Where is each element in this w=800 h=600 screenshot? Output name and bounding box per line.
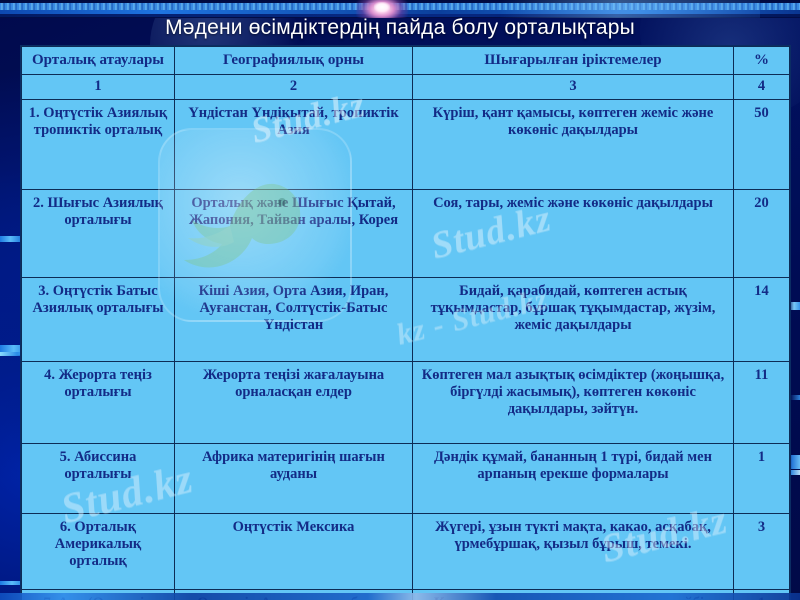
column-number-1: 1 <box>22 74 175 99</box>
table-row: 3. Оңтүстік Батыс Азиялық орталығы Кіші … <box>22 277 790 361</box>
cell-center: 3. Оңтүстік Батыс Азиялық орталығы <box>22 277 175 361</box>
cell-crops: Дәндік құмай, бананның 1 түрі, бидай мен… <box>413 443 734 513</box>
cell-location: Жерорта теңізі жағалауына орналасқан елд… <box>175 361 413 443</box>
cell-crops: Соя, тары, жеміс және көкөніс дақылдары <box>413 189 734 277</box>
cell-percent: 50 <box>734 99 790 189</box>
table-row: 6. Орталық Америкалық орталық Оңтүстік М… <box>22 513 790 589</box>
cell-center: 1. Оңтүстік Азиялық тропиктік орталық <box>22 99 175 189</box>
cell-center: 5. Абиссина орталығы <box>22 443 175 513</box>
column-numbering-row: 1 2 3 4 <box>22 74 790 99</box>
column-number-4: 4 <box>734 74 790 99</box>
cell-location: Оңтүстік Мексика <box>175 513 413 589</box>
column-header-location: Географиялық орны <box>175 47 413 75</box>
cell-crops: Көптеген мал азықтық өсімдіктер (жоңышқа… <box>413 361 734 443</box>
column-number-3: 3 <box>413 74 734 99</box>
column-header-center: Орталық атаулары <box>22 47 175 75</box>
table-row: 1. Оңтүстік Азиялық тропиктік орталық Үн… <box>22 99 790 189</box>
cell-crops: Күріш, қант қамысы, көптеген жеміс және … <box>413 99 734 189</box>
cell-location: Кіші Азия, Орта Азия, Иран, Ауғанстан, С… <box>175 277 413 361</box>
column-header-crops: Шығарылған іріктемелер <box>413 47 734 75</box>
slide-canvas: Мәдени өсімдіктердің пайда болу орталықт… <box>0 0 800 600</box>
cell-location: Орталық және Шығыс Қытай, Жапония, Тайва… <box>175 189 413 277</box>
bottom-decorative-bar <box>0 593 800 600</box>
cell-percent: 14 <box>734 277 790 361</box>
table-row: 4. Жерорта теңіз орталығы Жерорта теңізі… <box>22 361 790 443</box>
table-header-row: Орталық атаулары Географиялық орны Шығар… <box>22 47 790 75</box>
column-number-2: 2 <box>175 74 413 99</box>
cell-center: 4. Жерорта теңіз орталығы <box>22 361 175 443</box>
cell-center: 2. Шығыс Азиялық орталығы <box>22 189 175 277</box>
cell-percent: 3 <box>734 513 790 589</box>
page-title: Мәдени өсімдіктердің пайда болу орталықт… <box>0 16 800 40</box>
cell-percent: 11 <box>734 361 790 443</box>
cell-location: Африка материгінің шағын ауданы <box>175 443 413 513</box>
cell-center: 6. Орталық Америкалық орталық <box>22 513 175 589</box>
table-row: 5. Абиссина орталығы Африка материгінің … <box>22 443 790 513</box>
sparkle-core-icon <box>374 2 390 12</box>
edge-accent-right-2 <box>790 395 800 400</box>
table-row: 2. Шығыс Азиялық орталығы Орталық және Ш… <box>22 189 790 277</box>
origin-centers-table: Орталық атаулары Географиялық орны Шығар… <box>21 46 790 600</box>
cell-location: Үндістан Үндіқытай, тропиктік Азия <box>175 99 413 189</box>
cell-percent: 20 <box>734 189 790 277</box>
column-header-percent: % <box>734 47 790 75</box>
cell-crops: Жүгері, ұзын түкті мақта, какао, асқабақ… <box>413 513 734 589</box>
cell-crops: Бидай, қарабидай, көптеген астық тұқымда… <box>413 277 734 361</box>
cell-percent: 1 <box>734 443 790 513</box>
